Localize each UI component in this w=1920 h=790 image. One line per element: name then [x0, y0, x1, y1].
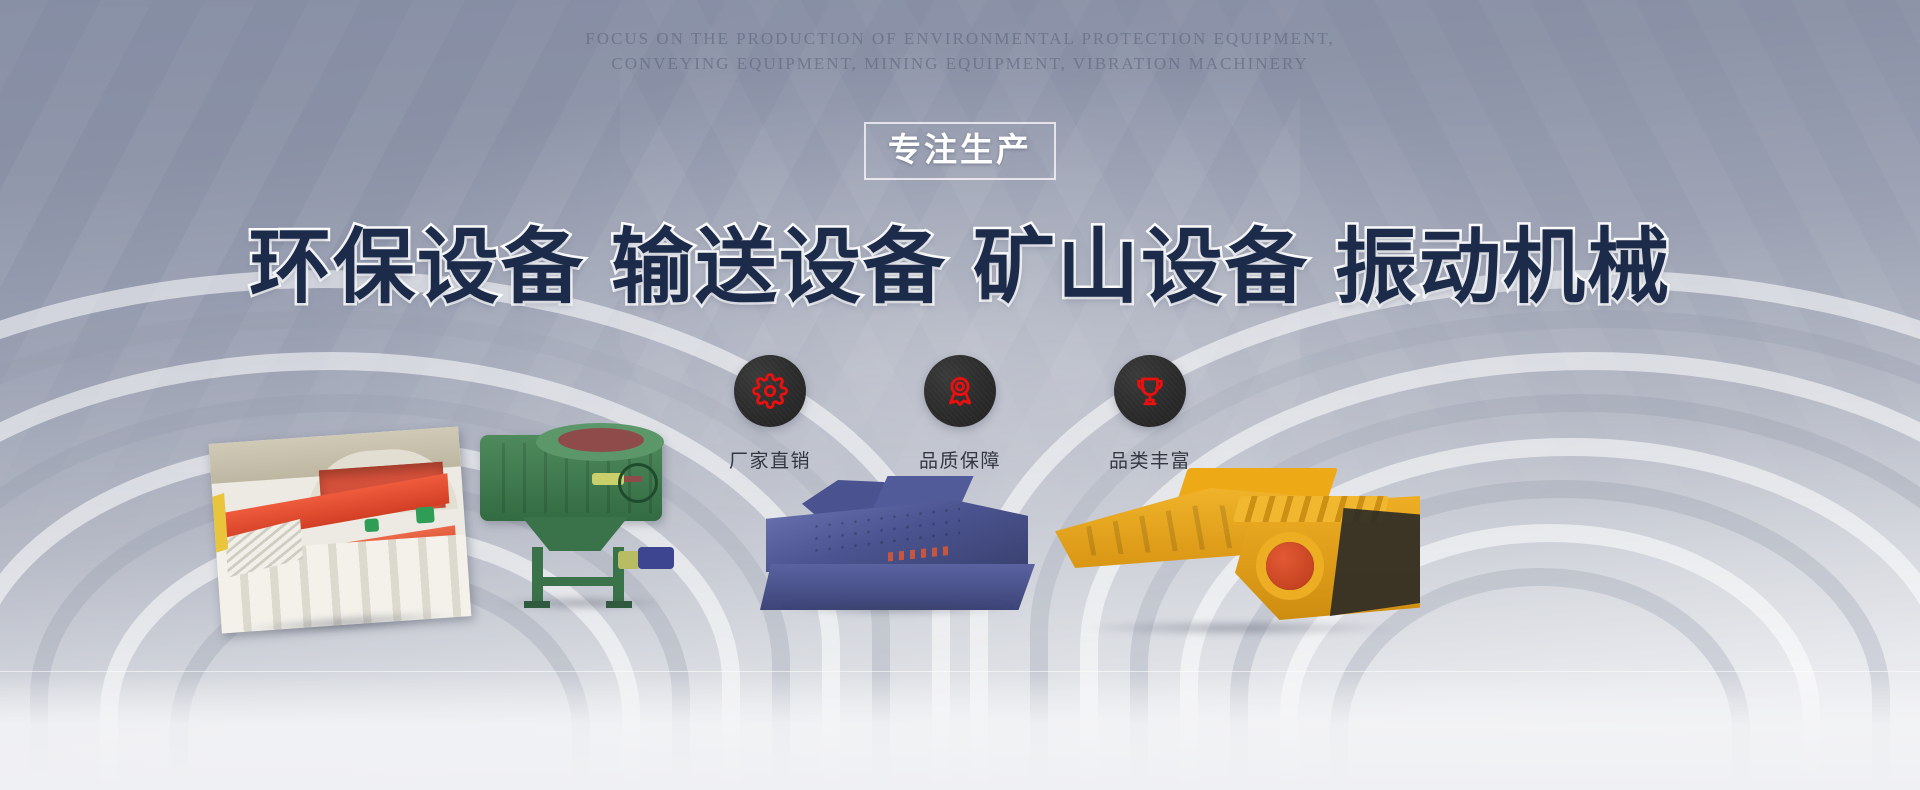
- headline-part-3: 矿山设备: [973, 222, 1309, 313]
- page-title: 环保设备输送设备矿山设备振动机械: [0, 200, 1920, 319]
- english-subtitle-line1: FOCUS ON THE PRODUCTION OF ENVIRONMENTAL…: [585, 29, 1334, 48]
- gear-icon: [734, 355, 806, 427]
- headline-part-2: 输送设备: [611, 222, 947, 313]
- trophy-icon: [1114, 355, 1186, 427]
- feature-item-rich-variety[interactable]: 品类丰富: [1088, 355, 1212, 473]
- focus-badge: 专注生产: [864, 122, 1056, 180]
- feature-item-factory-direct[interactable]: 厂家直销: [708, 355, 832, 473]
- machine-image-green-circular-feeder: [480, 435, 680, 605]
- medal-icon: [924, 355, 996, 427]
- machine-showcase: [0, 460, 1920, 790]
- machine-image-blue-vibrating-screen: [760, 465, 1035, 610]
- hero-banner: FOCUS ON THE PRODUCTION OF ENVIRONMENTAL…: [0, 0, 1920, 790]
- english-subtitle: FOCUS ON THE PRODUCTION OF ENVIRONMENTAL…: [0, 26, 1920, 76]
- feature-list: 厂家直销 品质保障: [708, 355, 1212, 473]
- machine-image-red-white-conveyor-equipment: [209, 427, 472, 634]
- machine-image-yellow-jaw-crusher: [1055, 460, 1420, 630]
- headline-part-1: 环保设备: [249, 222, 585, 313]
- headline-part-4: 振动机械: [1335, 222, 1671, 313]
- feature-item-quality-guarantee[interactable]: 品质保障: [898, 355, 1022, 473]
- english-subtitle-line2: CONVEYING EQUIPMENT, MINING EQUIPMENT, V…: [611, 54, 1308, 73]
